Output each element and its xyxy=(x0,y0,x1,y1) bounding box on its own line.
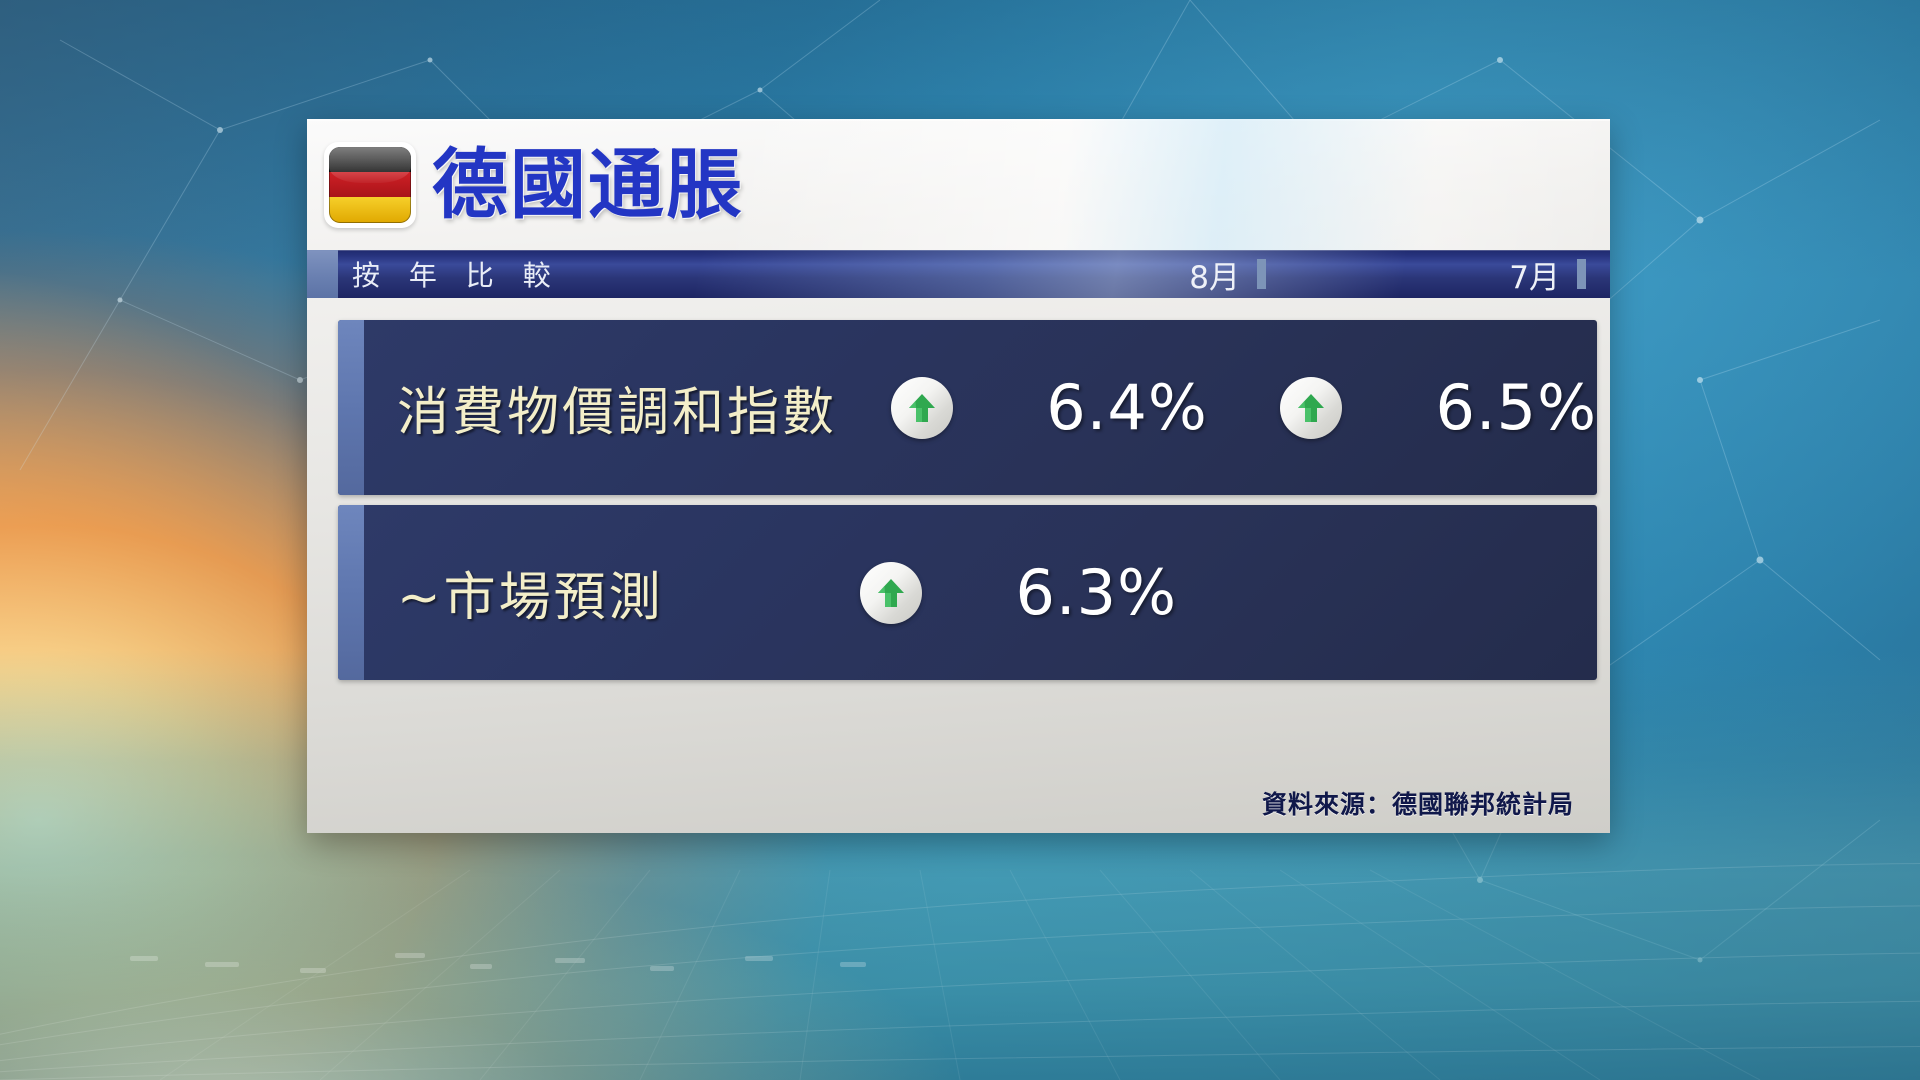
panel-header: 德國通脹 xyxy=(307,119,1610,250)
arrow-up-icon xyxy=(891,377,953,439)
arrow-up-icon xyxy=(860,562,922,624)
column-header-previous: 7月 xyxy=(1290,252,1610,297)
germany-flag-stripes xyxy=(329,147,411,223)
row-accent-bar xyxy=(338,320,364,495)
germany-flag-icon xyxy=(324,142,416,228)
graphic-panel: 德國通脹 按 年 比 較 8月 7月 消費物價調和指數 xyxy=(307,119,1610,833)
row-label: 消費物價調和指數 xyxy=(397,370,837,445)
flag-gloss xyxy=(329,147,411,183)
row-value-previous: 6.5% xyxy=(1382,371,1597,444)
row-cell-current: 6.3% xyxy=(777,556,1177,629)
table-row: 消費物價調和指數 6.4% xyxy=(338,320,1597,495)
subheader-bar: 按 年 比 較 8月 7月 xyxy=(307,250,1610,298)
arrow-up-icon xyxy=(1280,377,1342,439)
column-header-current-label: 8月 xyxy=(1189,252,1240,297)
row-cell-current: 6.4% xyxy=(837,371,1208,444)
row-label: ~市場預測 xyxy=(397,555,664,630)
data-rows: 消費物價調和指數 6.4% xyxy=(307,298,1610,680)
source-attribution: 資料來源：德國聯邦統計局 xyxy=(1262,785,1574,821)
column-header-current: 8月 xyxy=(1002,252,1290,297)
subheader-accent-tab xyxy=(307,250,338,298)
row-cell-previous: 6.5% xyxy=(1208,371,1597,444)
table-row: ~市場預測 6.3% xyxy=(338,505,1597,680)
page-title: 德國通脹 xyxy=(432,147,744,223)
column-tick-icon xyxy=(1257,259,1266,289)
column-header-previous-label: 7月 xyxy=(1509,252,1560,297)
column-tick-icon xyxy=(1577,259,1586,289)
row-value-current: 6.4% xyxy=(993,371,1208,444)
row-value-current: 6.3% xyxy=(962,556,1177,629)
row-accent-bar xyxy=(338,505,364,680)
comparison-label: 按 年 比 較 xyxy=(352,254,561,294)
